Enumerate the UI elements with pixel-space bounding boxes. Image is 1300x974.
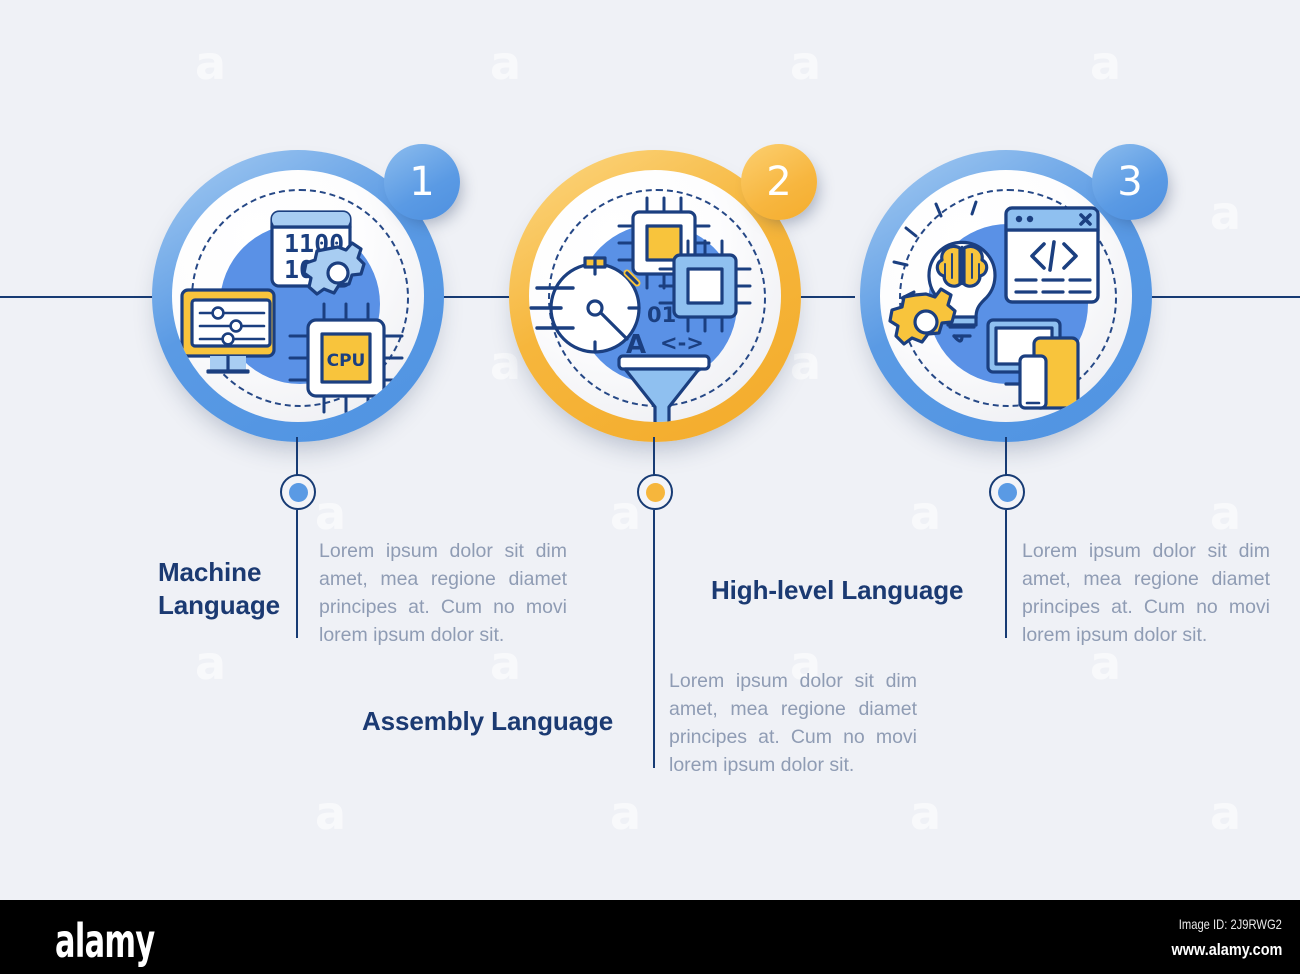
- step-badge-1: 1: [384, 144, 460, 220]
- step-node-3[interactable]: 3: [860, 150, 1152, 442]
- timeline-rule-right: [1140, 296, 1300, 298]
- step-title-1-line1: Machine: [158, 556, 298, 589]
- step-number-3: 3: [1117, 159, 1142, 205]
- step-number-2: 2: [766, 159, 791, 205]
- step-body-1: Lorem ipsum dolor sit dim amet, mea regi…: [319, 538, 567, 650]
- watermark-glyph: a: [315, 790, 346, 836]
- timeline-rule-mid1: [440, 296, 510, 298]
- alamy-website-label: www.alamy.com: [1171, 940, 1282, 960]
- infographic-canvas: aaaaaaaaaaaaaaaaaaaaaaaa 1100 100: [0, 0, 1300, 900]
- timeline-rule-left: [0, 296, 160, 298]
- watermark-glyph: a: [910, 790, 941, 836]
- timeline-rule-mid2: [800, 296, 855, 298]
- step-node-2[interactable]: 01 A <-> 2: [509, 150, 801, 442]
- connector-stem-3-top: [1005, 437, 1007, 475]
- watermark-glyph: a: [1210, 190, 1241, 236]
- step-body-2: Lorem ipsum dolor sit dim amet, mea regi…: [669, 668, 917, 780]
- alamy-logo: alamy: [55, 914, 155, 968]
- watermark-glyph: a: [1210, 490, 1241, 536]
- step-badge-3: 3: [1092, 144, 1168, 220]
- machine-language-icon: 1100 100: [172, 170, 424, 422]
- step-title-3: High-level Language: [711, 574, 1011, 607]
- step-title-2: Assembly Language: [362, 705, 662, 738]
- step-title-3-line1: High-level Language: [711, 574, 1011, 607]
- watermark-glyph: a: [790, 40, 821, 86]
- high-level-language-icon: [880, 170, 1132, 422]
- connector-dot-1: [280, 474, 316, 510]
- watermark-glyph: a: [1210, 790, 1241, 836]
- step-number-1: 1: [409, 159, 434, 205]
- step-inner-2: 01 A <->: [529, 170, 781, 422]
- step-title-1-line2: Language: [158, 589, 298, 622]
- alamy-footer-bar: alamy Image ID: 2J9RWG2 www.alamy.com: [0, 900, 1300, 974]
- connector-dot-3: [989, 474, 1025, 510]
- watermark-glyph: a: [610, 490, 641, 536]
- step-body-3: Lorem ipsum dolor sit dim amet, mea regi…: [1022, 538, 1270, 650]
- step-inner-1: 1100 100: [172, 170, 424, 422]
- watermark-glyph: a: [315, 490, 346, 536]
- step-badge-2: 2: [741, 144, 817, 220]
- connector-stem-2-top: [653, 437, 655, 475]
- step-title-1: Machine Language: [158, 556, 298, 621]
- watermark-glyph: a: [610, 790, 641, 836]
- assembly-language-icon: 01 A <->: [529, 170, 781, 422]
- image-id-label: Image ID: 2J9RWG2: [1179, 916, 1282, 932]
- svg-text:01: 01: [647, 303, 676, 327]
- step-title-2-line1: Assembly Language: [362, 705, 662, 738]
- watermark-glyph: a: [910, 490, 941, 536]
- svg-text:CPU: CPU: [327, 351, 366, 371]
- watermark-glyph: a: [195, 640, 226, 686]
- step-node-1[interactable]: 1100 100: [152, 150, 444, 442]
- step-inner-3: [880, 170, 1132, 422]
- svg-text:<->: <->: [660, 331, 704, 355]
- watermark-glyph: a: [195, 40, 226, 86]
- connector-dot-2: [637, 474, 673, 510]
- watermark-glyph: a: [1090, 40, 1121, 86]
- connector-stem-1-top: [296, 437, 298, 475]
- watermark-glyph: a: [490, 40, 521, 86]
